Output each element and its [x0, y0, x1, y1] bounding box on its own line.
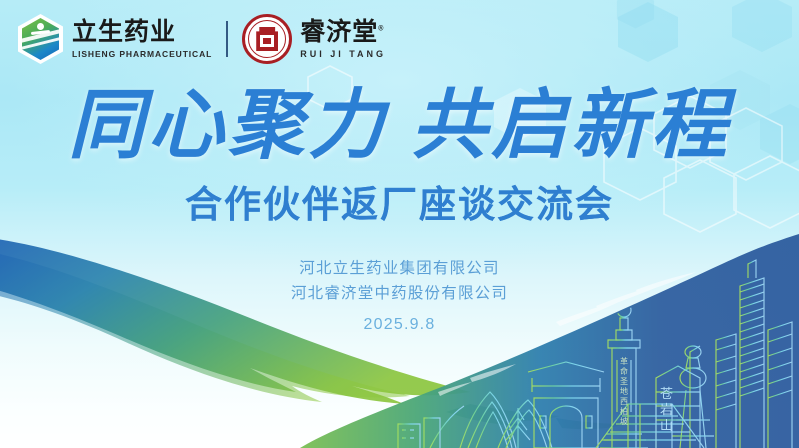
lisheng-name-en: LISHENG PHARMACEUTICAL: [72, 50, 212, 59]
hexagon-leaf-logo-icon: [18, 14, 63, 64]
mountain-range-icon: [430, 392, 552, 448]
mountain-label-c2: 岩: [660, 402, 673, 417]
organizer-line-1: 河北立生药业集团有限公司: [0, 256, 799, 281]
logo-divider: [226, 21, 228, 57]
brand-logo-bar: 立生药业 LISHENG PHARMACEUTICAL 睿济堂® RUI JI …: [18, 14, 386, 64]
mountain-label: 苍 岩 山: [660, 386, 677, 433]
monument-label: 革 命 圣 地 西 柏 坡: [620, 356, 630, 426]
lisheng-logo: 立生药业 LISHENG PHARMACEUTICAL: [18, 14, 212, 64]
poster-subtitle: 合作伙伴返厂座谈交流会: [0, 186, 799, 223]
ruijitang-logo: 睿济堂® RUI JI TANG: [242, 14, 386, 64]
event-poster: 立生药业 LISHENG PHARMACEUTICAL 睿济堂® RUI JI …: [0, 0, 799, 448]
ruijitang-name-cn: 睿济堂®: [300, 20, 386, 45]
pine-trees-icon: [506, 408, 530, 448]
traditional-gate-tower-icon: [524, 356, 608, 448]
mountain-label-c3: 山: [660, 418, 673, 433]
tv-tower-icon: [672, 330, 714, 448]
lisheng-name-cn: 立生药业: [72, 20, 212, 45]
ruijitang-name-en: RUI JI TANG: [300, 50, 386, 59]
red-circular-seal-logo-icon: [242, 14, 292, 64]
organizer-line-2: 河北睿济堂中药股份有限公司: [0, 281, 799, 306]
skyline-text-labels: 苍 岩 山 革 命 圣 地 西 柏 坡: [620, 356, 677, 433]
event-date: 2025.9.8: [0, 316, 799, 334]
organizer-list: 河北立生药业集团有限公司 河北睿济堂中药股份有限公司: [0, 256, 799, 306]
ruijitang-name-cn-text: 睿济堂: [300, 18, 378, 46]
stadium-icon: [596, 404, 704, 448]
mountain-label-c1: 苍: [660, 386, 673, 401]
poster-main-title: 同心聚力 共启新程: [0, 88, 799, 164]
registered-mark: ®: [378, 25, 384, 32]
low-rise-buildings-icon: [398, 418, 440, 448]
